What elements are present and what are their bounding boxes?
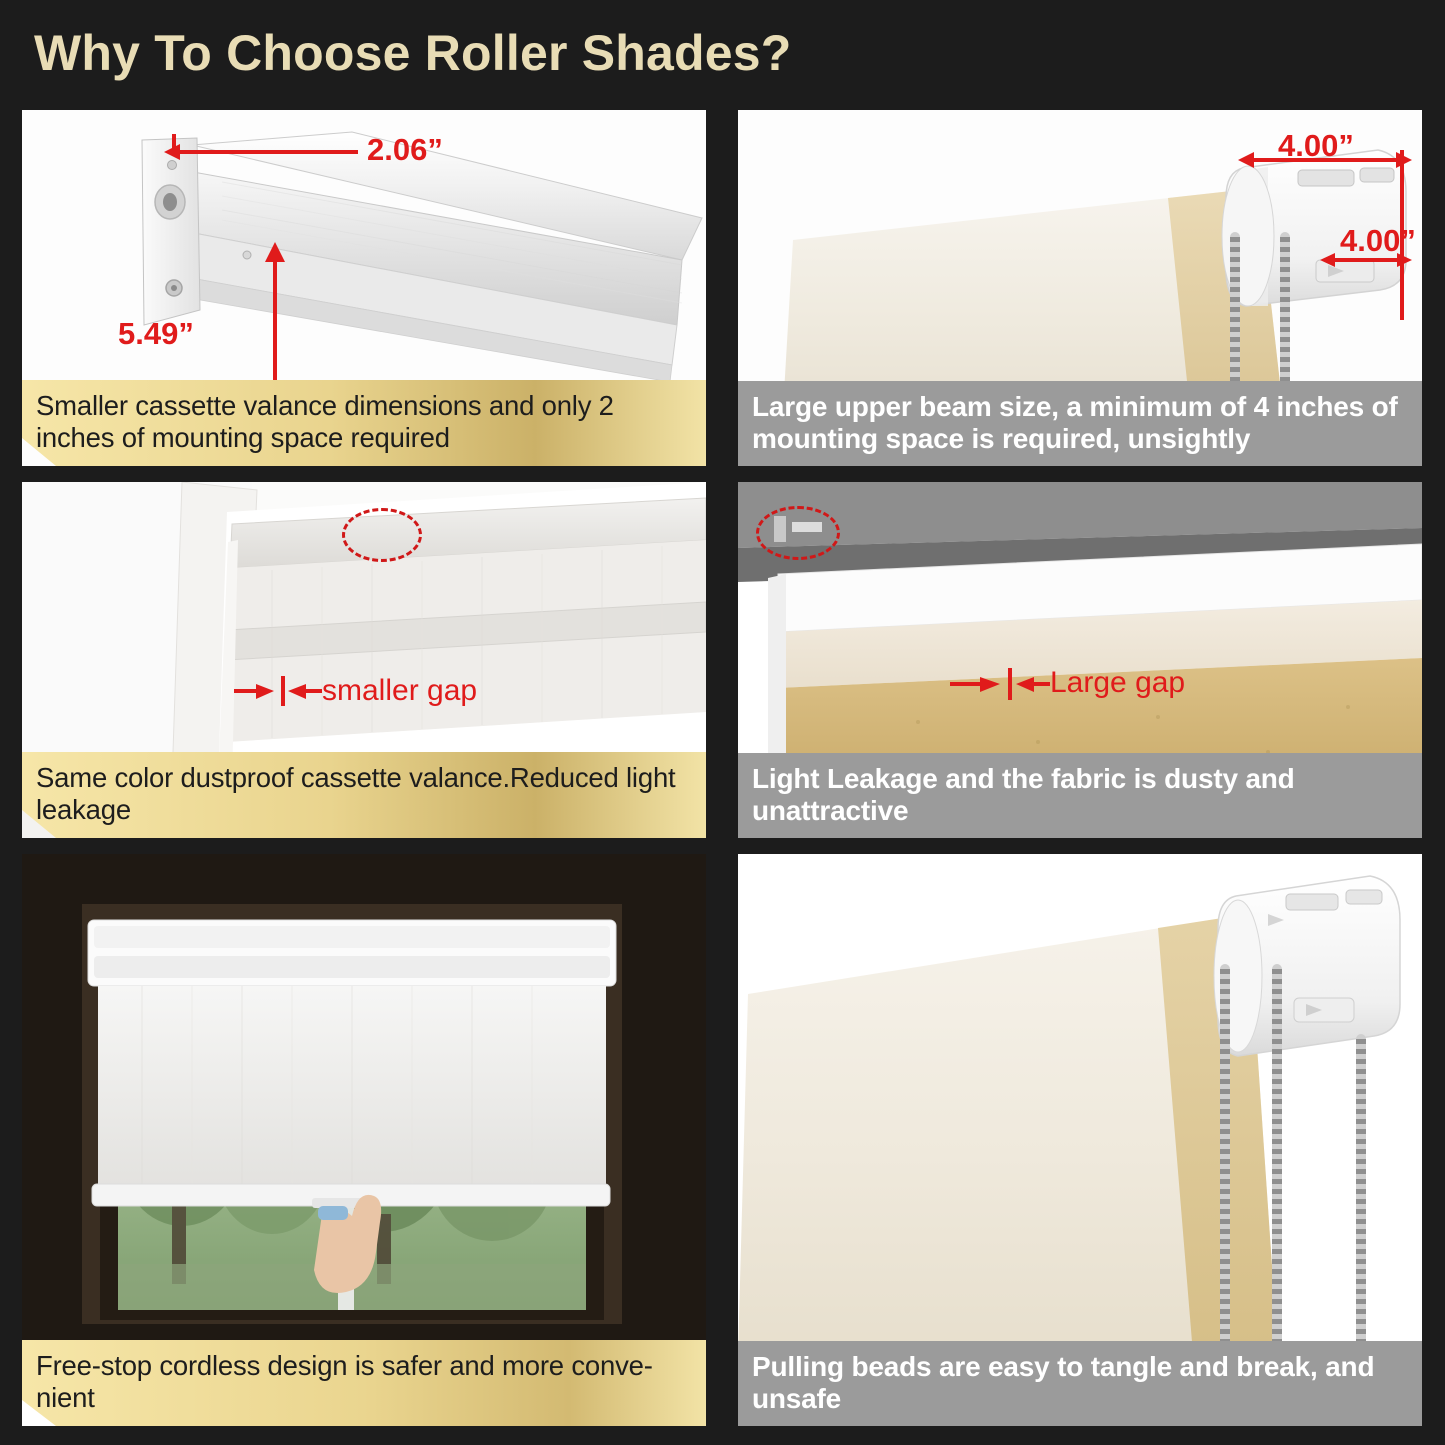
bead-chain-long-right <box>1272 964 1282 1354</box>
bead-chain-long-left <box>1220 964 1230 1354</box>
product-infographic: Why To Choose Roller Shades? <box>0 0 1445 1445</box>
cordless-window-illustration <box>22 854 706 1344</box>
smaller-gap-label: smaller gap <box>322 674 477 708</box>
beam-width-label: 4.00” <box>1278 128 1354 164</box>
smaller-gap-arrow-right-icon <box>288 681 322 703</box>
panel-smaller-gap: smaller gap Same color dustproof cassett… <box>22 482 706 838</box>
width-arrow-left-icon <box>160 140 184 164</box>
beam-width-arrow-left-icon <box>1234 148 1258 172</box>
panel-grid: 2.06” 5.49” Smaller cassette valance dim… <box>22 110 1422 1430</box>
panel-6-caption: Pulling beads are easy to tangle and bre… <box>738 1341 1422 1426</box>
pulling-beads-illustration <box>738 854 1422 1354</box>
gap-highlight-circle <box>342 508 422 562</box>
beam-width-tick-right <box>1400 150 1404 218</box>
beam-width-arrow-right-icon <box>1392 148 1416 172</box>
panel-pulling-beads: Pulling beads are easy to tangle and bre… <box>738 854 1422 1426</box>
panel-cassette-dimensions: 2.06” 5.49” Smaller cassette valance dim… <box>22 110 706 466</box>
width-dimension-label: 2.06” <box>367 132 443 168</box>
panel-2-caption: Large upper beam size, a minimum of 4 in… <box>738 381 1422 466</box>
panel-cordless-design: Free-stop cordless design is safer and m… <box>22 854 706 1426</box>
smaller-gap-tick <box>281 676 285 706</box>
height-dimension-label: 5.49” <box>118 316 194 352</box>
bead-chain-long-outer <box>1356 1034 1366 1354</box>
large-gap-arrow-left-icon <box>950 674 1002 696</box>
panel-4-caption: Light Leakage and the fabric is dusty an… <box>738 753 1422 838</box>
cassette-valance-illustration <box>22 110 706 410</box>
beam-depth-label: 4.00” <box>1340 223 1416 259</box>
width-dimension-line <box>172 150 358 154</box>
beam-depth-arrow-left-icon <box>1316 249 1338 271</box>
page-title: Why To Choose Roller Shades? <box>34 24 792 82</box>
panel-6-image <box>738 854 1422 1426</box>
panel-large-gap: Large gap Light Leakage and the fabric i… <box>738 482 1422 838</box>
panel-large-upper-beam: 4.00” 4.00” Large upper beam size, a min… <box>738 110 1422 466</box>
large-gap-illustration <box>738 482 1422 782</box>
large-gap-tick <box>1008 668 1012 700</box>
panel-5-caption: Free-stop cordless design is safer and m… <box>22 1340 706 1426</box>
bracket-detail-icon <box>768 512 838 552</box>
height-arrow-top-icon <box>263 240 287 266</box>
panel-3-caption: Same color dustproof cassette valance.Re… <box>22 752 706 838</box>
large-gap-label: Large gap <box>1050 666 1185 700</box>
smaller-gap-arrow-left-icon <box>234 681 276 703</box>
panel-1-caption: Smaller cassette valance dimensions and … <box>22 380 706 466</box>
large-gap-arrow-right-icon <box>1016 674 1050 696</box>
